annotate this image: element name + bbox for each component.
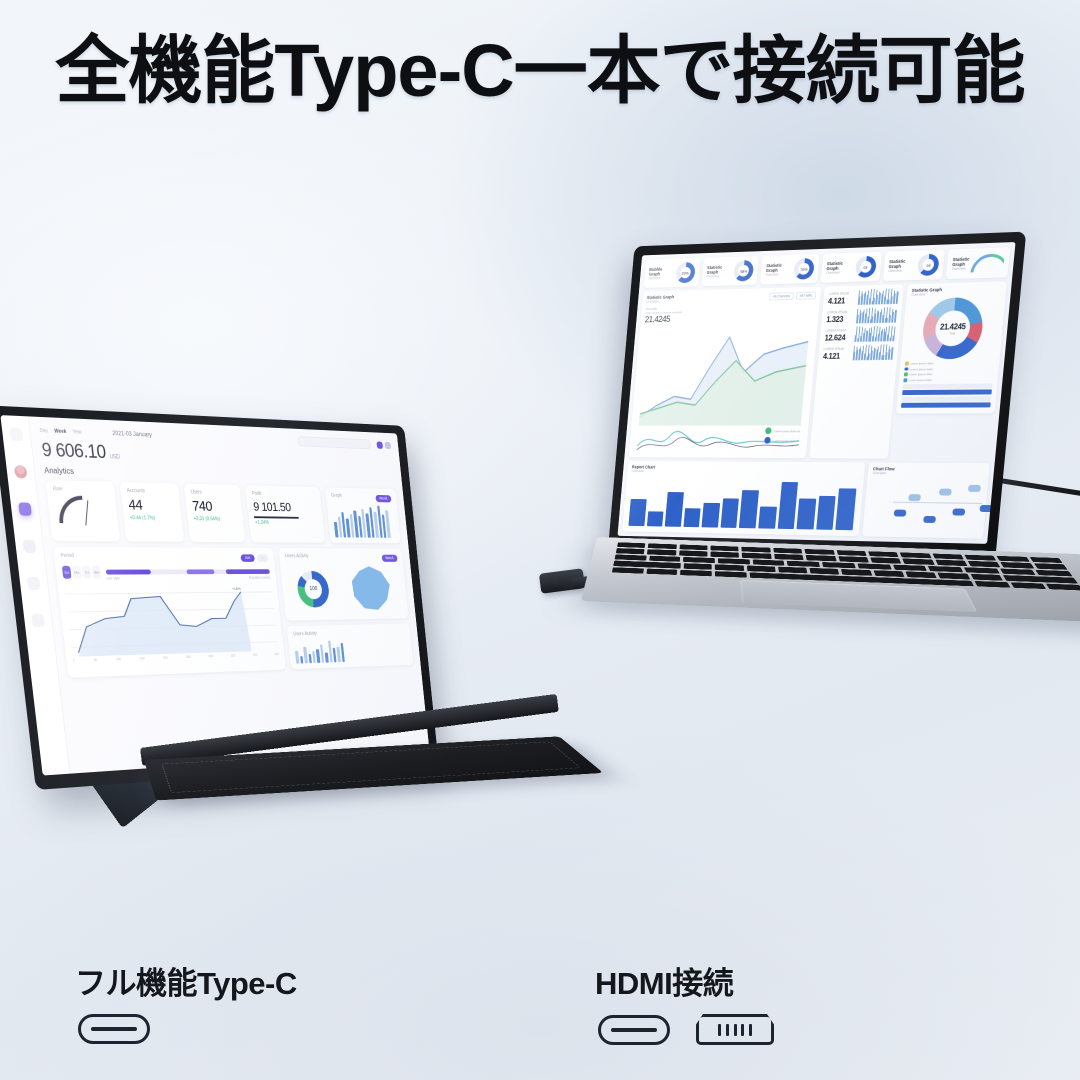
sparkline <box>858 288 899 305</box>
stat-card-profit: Profit 9 101.50 +1.24% <box>245 485 325 542</box>
gauge-ring-chart: 58% <box>733 260 754 282</box>
kpi-label: LOREM IPSUM <box>827 310 848 314</box>
top-stat-card: Statistic GraphOverview <box>946 247 1010 279</box>
keyboard-key[interactable] <box>900 552 931 558</box>
date-label: 2021-03 January <box>112 431 152 439</box>
keyboard-key[interactable] <box>928 566 963 573</box>
kpi-value: 1.323 <box>826 314 854 323</box>
sparkline <box>856 307 897 324</box>
feature-icons-typec <box>78 1014 150 1044</box>
card-title: Statistic Graph <box>952 257 969 267</box>
hdmi-icon <box>696 1014 774 1045</box>
stat-title: Accounts <box>127 488 174 495</box>
main-statistic-card: Statistic Graph Overview All Channels Al… <box>629 287 822 459</box>
keyboard-key[interactable] <box>753 559 785 565</box>
chart-flow-card: Chart Flow Overview <box>862 462 990 538</box>
keyboard-key[interactable] <box>970 574 1003 581</box>
keyboard-key[interactable] <box>964 555 996 561</box>
period-tabs[interactable]: Day Week Year <box>39 427 82 435</box>
users-activity-card: Users Activity Week 100 <box>279 548 409 621</box>
portable-monitor: Day Week Year 2021-03 January 9 606.10US… <box>36 408 596 878</box>
keyboard-key[interactable] <box>857 563 891 569</box>
card-title: Users Activity <box>293 629 405 637</box>
radar-chart <box>348 565 395 612</box>
day-mo[interactable]: Mo <box>72 566 82 579</box>
keyboard-key[interactable] <box>838 556 869 562</box>
card-subtitle: Overview <box>706 274 731 279</box>
stat-card-accounts: Accounts 44 +0.44 (1.7%) <box>120 482 185 542</box>
card-title: Users Activity <box>285 554 309 560</box>
top-stat-card: Statistic GraphOverview04 <box>883 249 945 280</box>
bar-chart <box>294 637 408 664</box>
kpi-label: LOREM IPSUM <box>824 346 845 350</box>
kpi-label: LOREM IPSUM <box>825 328 846 332</box>
keyboard-key[interactable] <box>718 558 750 564</box>
keyboard-key[interactable] <box>892 565 927 571</box>
kpi-value: 12.624 <box>824 333 852 342</box>
card-title: Graph <box>331 493 342 499</box>
donut-chart: 100 <box>296 571 331 608</box>
gauge-value: 04 <box>917 254 940 276</box>
logo-icon <box>9 428 23 442</box>
filter-channels-select[interactable]: All Channels <box>769 292 794 300</box>
bar-chart <box>627 473 860 532</box>
day-su[interactable]: Su <box>62 566 72 579</box>
keyboard-key[interactable] <box>997 556 1030 562</box>
keyboard-key[interactable] <box>616 548 645 554</box>
keyboard-key[interactable] <box>649 556 681 562</box>
keyboard-key[interactable] <box>1034 563 1068 569</box>
activity-filter-badge[interactable]: Week <box>381 554 397 561</box>
keyboard-key[interactable] <box>964 567 1000 574</box>
keyboard-key[interactable] <box>773 548 802 554</box>
chart-icon[interactable] <box>27 577 41 590</box>
bar-chart <box>332 501 395 538</box>
kpi-label: LOREM IPSUM <box>829 291 850 295</box>
keyboard-key[interactable] <box>742 553 771 559</box>
gauge-value: 23% <box>675 262 696 283</box>
keyboard-key[interactable] <box>742 547 771 553</box>
sparkline <box>854 326 895 342</box>
graph-period-badge[interactable]: Week <box>375 494 392 501</box>
day-picker[interactable]: Su Mo Tu We <box>62 566 102 579</box>
set-button[interactable]: Set <box>240 554 254 561</box>
keyboard-key[interactable] <box>1010 582 1046 589</box>
search-input[interactable] <box>297 436 371 449</box>
stat-value: 9 101.50 <box>253 499 318 514</box>
card-title: Period <box>60 553 74 559</box>
feature-label-typec: フル機能Type-C <box>75 958 297 1003</box>
laptop-base <box>581 537 1080 624</box>
product-marketing-image: 全機能Type-C一本で接続可能 <box>0 0 1080 1080</box>
sidebar-item-dashboard[interactable] <box>18 502 32 515</box>
card-subtitle: Overview <box>826 270 852 275</box>
table-row-highlight <box>901 403 991 408</box>
table-row <box>902 396 992 401</box>
keyboard-key[interactable] <box>806 555 836 561</box>
keyboard-key[interactable] <box>932 554 964 560</box>
gauge-ring-chart: 23% <box>675 262 696 283</box>
usb-c-icon <box>78 1014 150 1044</box>
keyboard-key[interactable] <box>935 560 967 566</box>
toggle-label-line-style: Line style <box>106 576 120 580</box>
keyboard-key[interactable] <box>974 581 1010 588</box>
data-table <box>901 383 993 408</box>
keyboard-key[interactable] <box>646 568 677 575</box>
card-subtitle: Overview <box>952 267 968 271</box>
donut-legend: Lorem ipsum dolorLorem ipsum dolorLorem … <box>903 360 994 382</box>
laptop-lid: Bubble GraphStatistics23%Statistic Graph… <box>608 232 1027 562</box>
donut-statistic-card: Statistic Graph Overview 21.4245 Total L… <box>896 281 1007 413</box>
table-row-highlight <box>902 390 992 396</box>
keyboard-key[interactable] <box>679 551 708 557</box>
tab-day[interactable]: Day <box>39 427 48 433</box>
kpi-row: LOREM IPSUM4.121 <box>828 288 899 305</box>
more-button[interactable]: ··· <box>256 554 268 561</box>
keyboard-key[interactable] <box>968 561 1001 567</box>
legend-item: Lorem ipsum dolor sit <box>774 429 800 433</box>
keyboard-key[interactable] <box>903 559 935 565</box>
kpi-row: LOREM IPSUM1.323 <box>826 307 897 324</box>
stat-title: Users <box>190 490 235 497</box>
keyboard-key[interactable] <box>787 561 820 567</box>
bottom-row: Report Chart Overview Chart Flow Overvie… <box>622 461 990 539</box>
keyboard-key[interactable] <box>822 562 855 568</box>
top-stat-card: Statistic GraphOverview03 <box>821 252 882 283</box>
keyboard-key[interactable] <box>1029 557 1062 563</box>
keyboard-key[interactable] <box>1001 562 1034 568</box>
legend-item: Lorem ipsum dolor <box>905 360 995 365</box>
toggle-label-rounded: Rounded corners <box>249 576 271 580</box>
stat-delta: +0.44 (1.7%) <box>130 515 177 521</box>
keyboard-key[interactable] <box>715 564 743 570</box>
gauge-ring-chart: 04 <box>917 254 940 276</box>
feature-icons-hdmi <box>598 1014 774 1045</box>
stat-card-users: Users 740 +2.31 (0.54%) <box>184 484 246 543</box>
area-chart: +15% <box>64 582 279 657</box>
page-title: 全機能Type-C一本で接続可能 <box>0 34 1080 108</box>
legend-item: Lorem ipsum dolor <box>903 377 993 382</box>
gauge-ring-chart: 76% <box>793 258 815 280</box>
card-subtitle: Overview <box>646 299 673 303</box>
account-avatars[interactable] <box>376 441 391 449</box>
table-row <box>903 383 993 389</box>
stat-delta: +1.24% <box>255 519 319 525</box>
keyboard-key[interactable] <box>684 563 712 569</box>
keyboard-key[interactable] <box>906 572 938 579</box>
donut-center-value: 21.4245 <box>940 322 966 331</box>
keyboard-key[interactable] <box>778 567 807 573</box>
keyboard-key[interactable] <box>774 554 804 560</box>
top-stat-card: Statistic GraphOverview76% <box>760 254 820 285</box>
card-subtitle: Overview <box>872 471 984 476</box>
stat-value: 740 <box>191 498 237 515</box>
keyboard-key[interactable] <box>938 573 970 580</box>
stat-title: Rate <box>53 486 109 493</box>
area-chart <box>636 321 814 426</box>
gauge-arc-chart <box>970 253 1005 272</box>
gear-icon[interactable] <box>23 540 37 553</box>
kpi-value: 4.121 <box>823 351 851 360</box>
right-column: Statistic Graph Overview 21.4245 Total L… <box>892 281 1007 459</box>
keyboard-key[interactable] <box>615 554 647 560</box>
donut-center-sub: Total <box>949 331 955 335</box>
tab-week[interactable]: Week <box>54 428 67 434</box>
gauge-ring-chart: 03 <box>854 256 876 278</box>
keyboard-key[interactable] <box>683 557 715 563</box>
gauge-value: 58% <box>733 260 754 282</box>
range-slider[interactable] <box>106 569 271 574</box>
feature-label-hdmi: HDMI接続 <box>595 958 733 1003</box>
keyboard-key[interactable] <box>841 569 871 575</box>
keyboard-key[interactable] <box>1036 570 1073 577</box>
sparkline <box>853 344 894 360</box>
kpi-row: LOREM IPSUM4.121 <box>823 344 894 361</box>
secondary-row: Period Set ··· Su Mo Tu We <box>53 547 413 678</box>
card-subtitle: Overview <box>888 268 915 273</box>
top-stat-card: Statistic GraphOverview58% <box>701 256 759 286</box>
tab-year[interactable]: Year <box>72 429 82 435</box>
stat-card-rate: Rate <box>45 480 120 541</box>
day-tu[interactable]: Tu <box>82 566 92 579</box>
keyboard-key[interactable] <box>805 549 835 555</box>
flow-diagram <box>890 476 984 534</box>
kpi-row: LOREM IPSUM12.624 <box>824 326 895 343</box>
avatar <box>14 465 28 478</box>
macbook-air-laptop: Bubble GraphStatistics23%Statistic Graph… <box>545 232 1080 792</box>
legend-item: Lorem ipsum dolor sit <box>773 438 799 442</box>
graph-card: Graph Week <box>325 487 401 543</box>
gauge-value: 76% <box>793 258 815 280</box>
filter-traffic-select[interactable]: All Traffic <box>796 291 816 299</box>
keyboard-key[interactable] <box>868 551 899 557</box>
keyboard-key[interactable] <box>711 552 740 558</box>
keyboard-key[interactable] <box>836 550 866 556</box>
donut-chart: 21.4245 Total <box>920 297 985 360</box>
keyboard-key[interactable] <box>1046 583 1080 590</box>
keyboard-key[interactable] <box>680 570 711 577</box>
stat-cards-row: Rate Accounts 44 +0.44 (1.7%) <box>45 480 400 543</box>
middle-row: Statistic Graph Overview All Channels Al… <box>629 281 1007 459</box>
legend-item: Lorem ipsum dolor <box>904 366 994 371</box>
keyboard-key[interactable] <box>810 568 840 574</box>
wave-chart: Lorem ipsum dolor sit Lorem ipsum dolor … <box>633 425 804 454</box>
card-subtitle: Statistics <box>648 276 673 280</box>
report-chart-card: Report Chart Overview <box>622 461 865 536</box>
day-we[interactable]: We <box>92 566 102 579</box>
gauge-value: 03 <box>854 256 876 278</box>
stat-title: Profit <box>252 491 316 498</box>
kpi-value: 4.121 <box>828 296 856 305</box>
keyboard-key[interactable] <box>648 543 676 549</box>
donut-center-value: 100 <box>296 571 331 608</box>
top-stat-card: Bubble GraphStatistics23% <box>643 258 700 288</box>
keyboard-key[interactable] <box>747 566 776 572</box>
chart-annotation: +15% <box>232 587 241 592</box>
stat-delta: +2.31 (0.54%) <box>193 516 238 522</box>
keyboard-key[interactable] <box>999 568 1035 575</box>
legend-item: Lorem ipsum dolor <box>904 372 994 377</box>
gauge-chart <box>56 495 110 525</box>
laptop-screen: Bubble GraphStatistics23%Statistic Graph… <box>617 242 1015 544</box>
period-card: Period Set ··· Su Mo Tu We <box>53 547 286 678</box>
blue-analytics-dashboard: Bubble GraphStatistics23%Statistic Graph… <box>617 242 1015 544</box>
bottom-activity-card: Users Activity <box>287 624 413 670</box>
card-subtitle: Overview <box>765 272 791 277</box>
keyboard-key[interactable] <box>715 571 746 578</box>
keyboard-key[interactable] <box>873 570 904 577</box>
kpi-column: LOREM IPSUM4.121LOREM IPSUM1.323LOREM IP… <box>809 284 904 458</box>
keyboard-key[interactable] <box>647 549 676 555</box>
keyboard-key[interactable] <box>870 557 901 563</box>
keyboard-key[interactable] <box>612 567 644 574</box>
keyboard-key[interactable] <box>617 542 646 548</box>
usb-c-icon <box>598 1015 670 1045</box>
keyboard-key[interactable] <box>711 546 739 552</box>
power-icon[interactable] <box>31 614 45 627</box>
keyboard-key[interactable] <box>679 545 707 551</box>
stat-value: 44 <box>128 497 176 514</box>
